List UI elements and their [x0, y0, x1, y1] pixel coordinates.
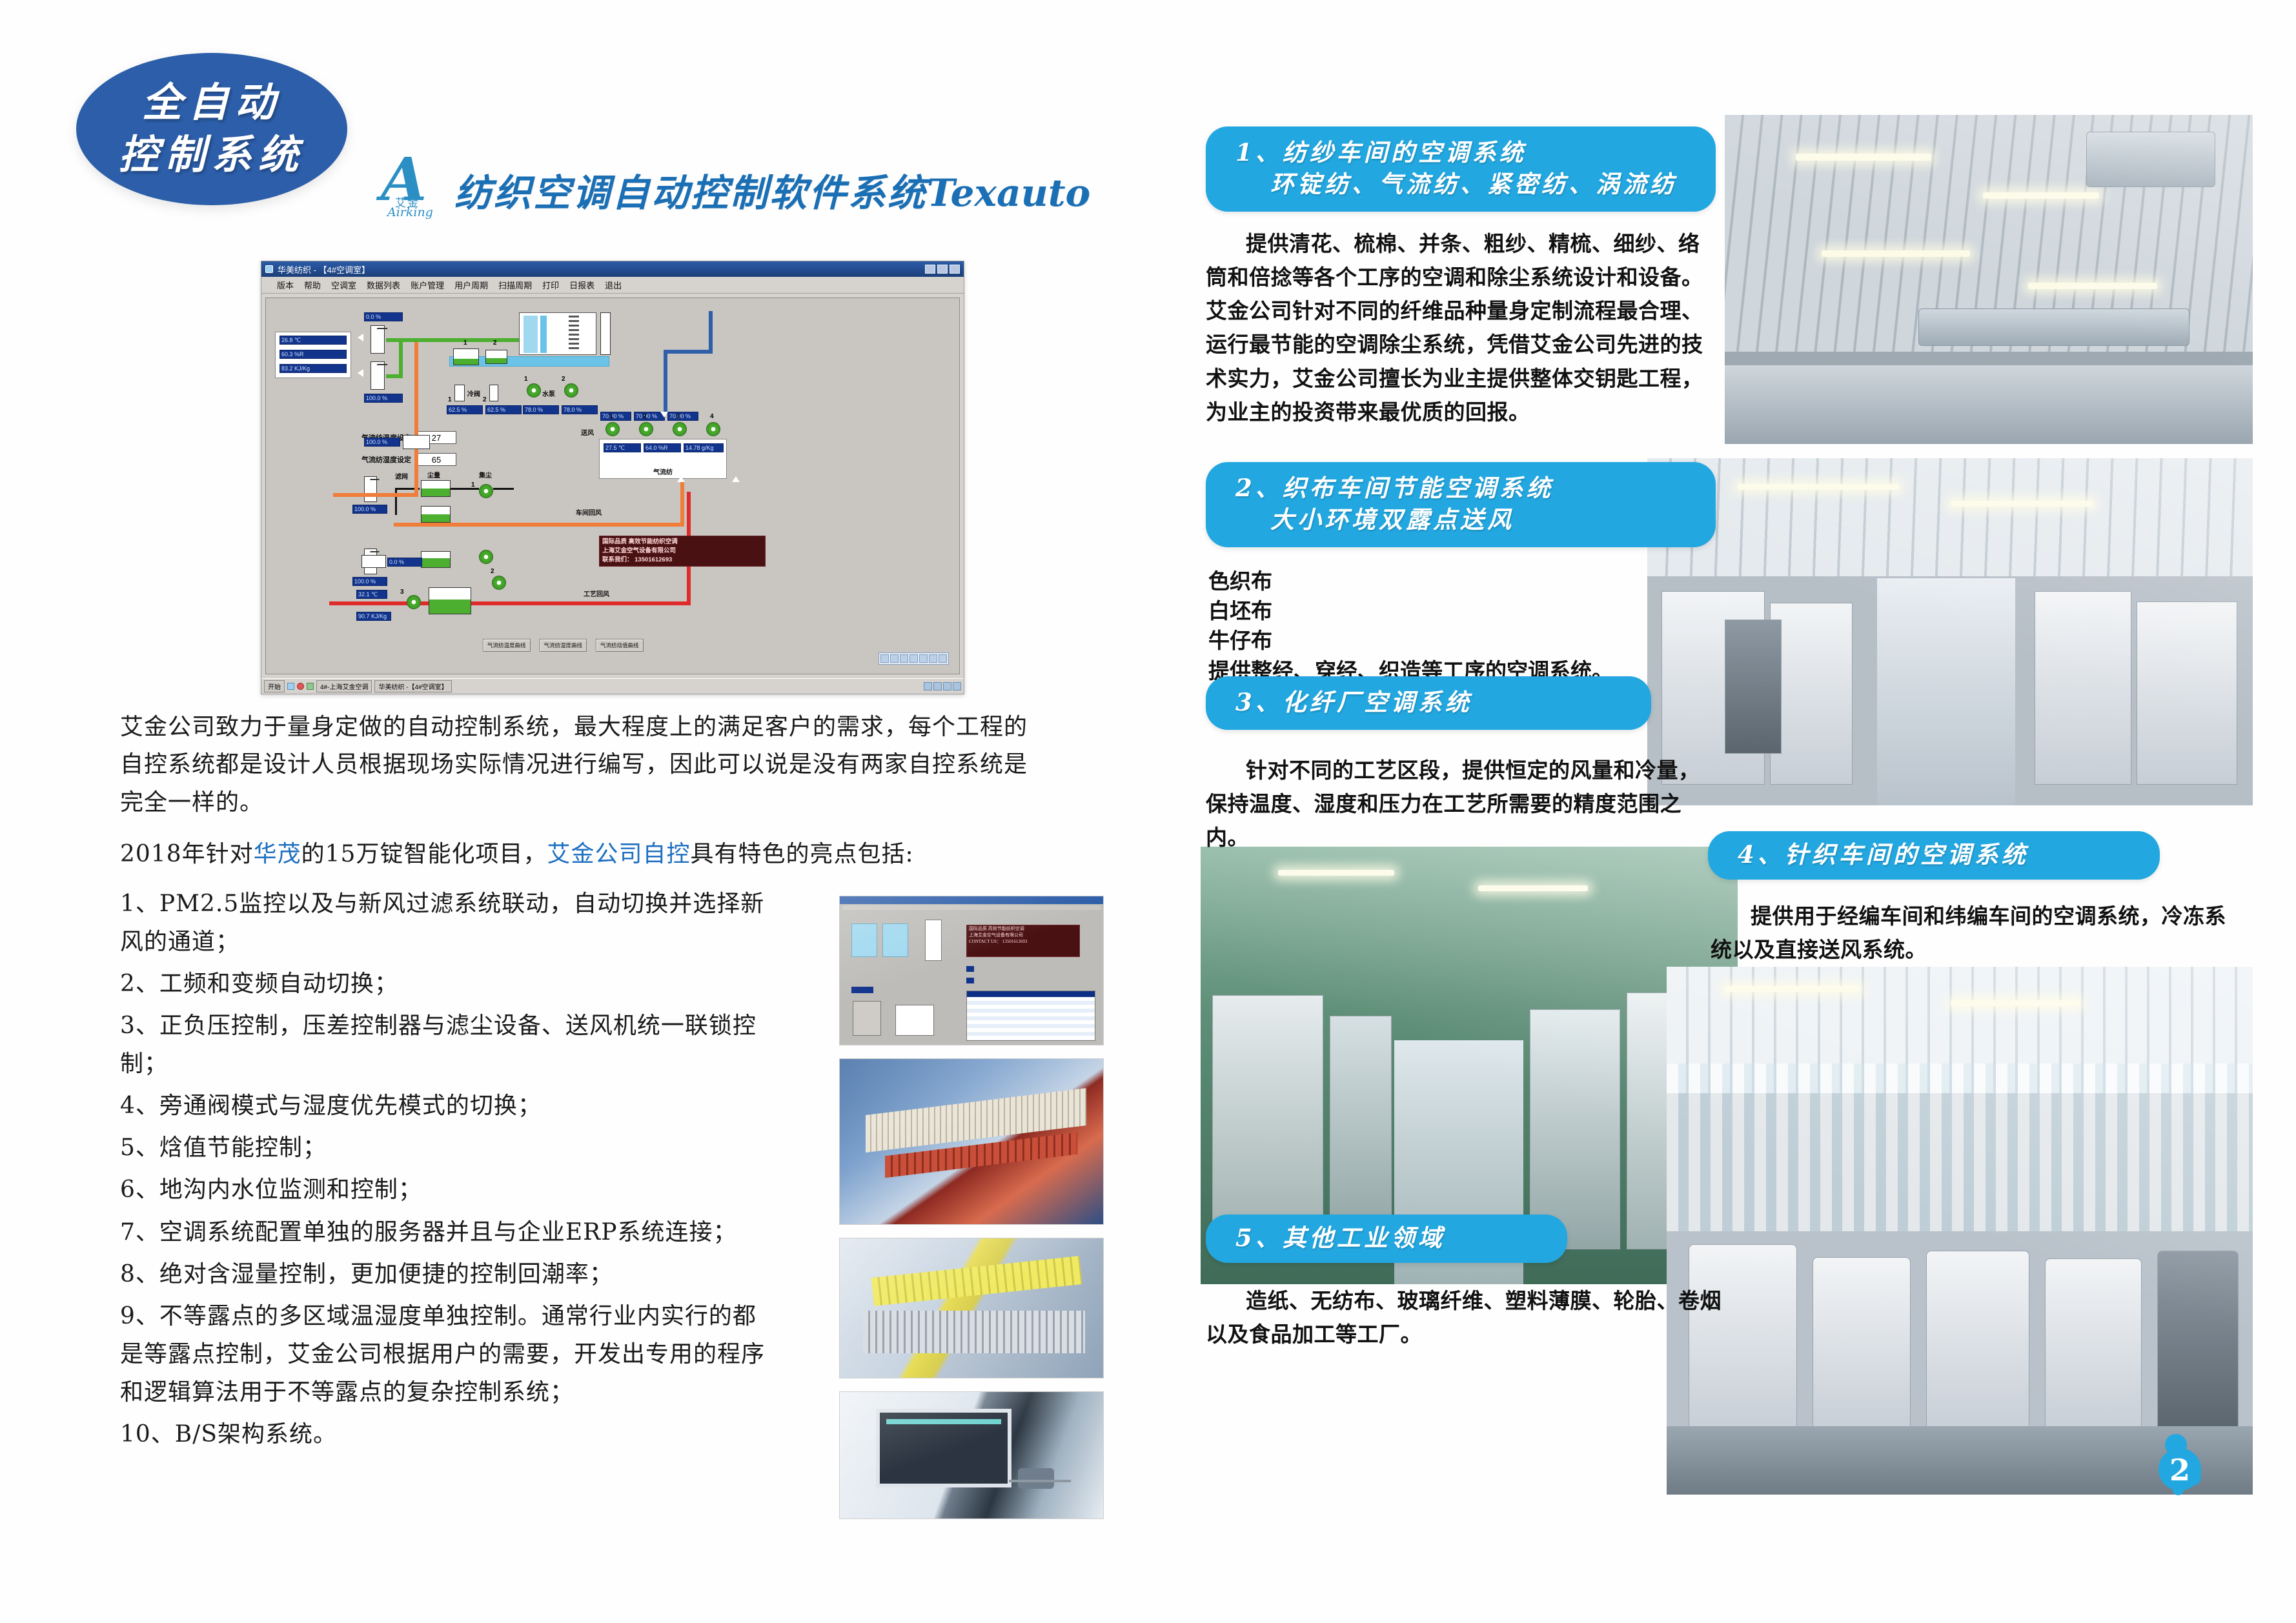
- supply-fan-icon-2[interactable]: [639, 422, 653, 436]
- cold-valve-label: 冷阀: [467, 388, 480, 398]
- wrench-icon[interactable]: [929, 654, 937, 663]
- help-icon[interactable]: [939, 654, 947, 663]
- quicklaunch-icon-2[interactable]: [297, 683, 304, 690]
- filter-tank-3: [421, 551, 451, 568]
- water-icon[interactable]: [909, 654, 918, 663]
- process-fan-icon[interactable]: [479, 550, 493, 564]
- close-icon[interactable]: [950, 265, 960, 274]
- photo-gloss: [840, 1238, 1103, 1378]
- fresh-air-damper-icon[interactable]: [371, 325, 385, 354]
- supply-fan-value-3: 70.00 %: [667, 412, 698, 421]
- cold-valve-value-2: 62.5 %: [485, 405, 522, 414]
- intro2-highlight-huamao: 华茂: [254, 841, 301, 867]
- spray-tank-1: [453, 348, 479, 365]
- filter-damper-value-2: 100.0 %: [352, 577, 387, 586]
- room-temperature-value: 27.5 ℃: [604, 443, 641, 452]
- blue-pipe-1: [709, 311, 713, 352]
- cold-valve-number-1: 1: [448, 396, 452, 403]
- menu-item-accounts[interactable]: 账户管理: [411, 279, 444, 291]
- badge-line-1: 全自动: [142, 77, 281, 129]
- room-name-label: 气流纺: [600, 467, 726, 476]
- intro2-part-b: 的15万锭智能化项目，: [301, 841, 547, 867]
- process-return-duct: [329, 601, 691, 605]
- badge-line-2: 控制系统: [119, 129, 305, 181]
- supply-fan-number-4: 4: [710, 413, 714, 420]
- page-title-latin: Texauto: [927, 171, 1090, 215]
- bypass-damper-icon[interactable]: [403, 435, 430, 449]
- filter-damper-icon-1[interactable]: [364, 476, 377, 502]
- list-item: 9、不等露点的多区域温湿度单独控制。通常行业内实行的都是等露点控制，艾金公司根据…: [120, 1297, 772, 1411]
- menu-item-user-cycle[interactable]: 用户周期: [454, 279, 488, 291]
- fabric-type-1: 色织布: [1208, 567, 1725, 596]
- tray-icon-3[interactable]: [943, 682, 951, 691]
- return-air-branch: [333, 493, 418, 497]
- start-button[interactable]: 开始: [264, 680, 285, 692]
- air-inlet-arrow-1: [358, 334, 363, 341]
- eliminator-plates: [600, 312, 611, 355]
- water-pump-number-1: 1: [524, 376, 528, 383]
- list-item: 5、焓值节能控制；: [120, 1129, 772, 1167]
- cold-valve-number-2: 2: [483, 396, 487, 403]
- cold-valve-icon-1[interactable]: [454, 385, 465, 401]
- outdoor-temperature-value: 26.8 ℃: [279, 336, 347, 345]
- list-item: 8、绝对含湿量控制，更加便捷的控制回潮率；: [120, 1255, 772, 1293]
- filter-damper-value-1: 100.0 %: [352, 505, 387, 514]
- floating-toolbar[interactable]: [879, 652, 949, 665]
- menu-item-print[interactable]: 打印: [542, 279, 559, 291]
- section-4-title: 4、针织车间的空调系统: [1738, 839, 2134, 871]
- menu-item-scan-cycle[interactable]: 扫描周期: [498, 279, 532, 291]
- quicklaunch-icon-3[interactable]: [307, 683, 314, 690]
- spray-number-1: 1: [463, 339, 467, 347]
- section-heading-5: 5、其他工业领域: [1206, 1215, 1567, 1263]
- supply-fan-number-2: 2: [643, 413, 647, 420]
- system-tray[interactable]: [924, 682, 961, 691]
- water-pump-value-1: 78.0 %: [523, 405, 559, 414]
- water-pump-value-2: 78.0 %: [562, 405, 598, 414]
- supply-fan-label: 送风: [581, 427, 594, 437]
- workshop-return-duct: [394, 523, 684, 527]
- intro2-highlight-airking: 艾金公司自控: [547, 841, 690, 867]
- filter-tank-1: [421, 480, 451, 497]
- trend-icon[interactable]: [900, 654, 908, 663]
- black-duct-2: [395, 488, 397, 515]
- process-return-fan[interactable]: [407, 595, 421, 609]
- outdoor-enthalpy-value: 83.2 KJ/Kg: [279, 364, 347, 373]
- app-icon: [265, 265, 273, 273]
- section-heading-4: 4、针织车间的空调系统: [1708, 831, 2160, 880]
- process-enthalpy-value: 90.7 KJ/Kg: [356, 612, 391, 621]
- fabric-type-3: 牛仔布: [1208, 626, 1725, 656]
- outdoor-humidity-value: 60.3 %R: [279, 350, 347, 359]
- water-pump-icon-2[interactable]: [564, 383, 578, 398]
- blue-pipe-2: [664, 350, 713, 354]
- page-title: 纺织空调自动控制软件系统Texauto: [454, 163, 1090, 219]
- section-2-subtitle: 大小环境双露点送风: [1235, 504, 1690, 536]
- list-item: 7、空调系统配置单独的服务器并且与企业ERP系统连接；: [120, 1213, 772, 1251]
- hmi-software-screenshot[interactable]: 华美纺织 - 【4#空调室】 版本 帮助 空调室 数据列表 账户管理 用户周期 …: [261, 261, 964, 694]
- section-4-body: 提供用于经编车间和纬编车间的空调系统，冷冻系统以及直接送风系统。: [1711, 900, 2227, 967]
- section-heading-3: 3、化纤厂空调系统: [1206, 676, 1651, 730]
- hmi-title-bar: 华美纺织 - 【4#空调室】: [261, 261, 964, 277]
- dust-collector-fan-1[interactable]: [479, 484, 493, 498]
- return-air-riser: [414, 342, 418, 497]
- air-washer-chamber: [519, 312, 596, 355]
- hmi-menu-bar[interactable]: 版本 帮助 空调室 数据列表 账户管理 用户周期 扫描周期 打印 日报表 退出: [261, 277, 964, 294]
- brand-lockup: A 艾金 Airking 纺织空调自动控制软件系统Texauto: [378, 152, 1090, 219]
- menu-item-data-list[interactable]: 数据列表: [367, 279, 400, 291]
- supply-fan-icon-4[interactable]: [706, 422, 720, 436]
- process-fan-number-2: 2: [491, 568, 494, 575]
- dust-amount-label: 尘量: [427, 470, 440, 479]
- intro-paragraph: 艾金公司致力于量身定做的自动控制系统，最大程度上的满足客户的需求，每个工程的自控…: [120, 709, 1043, 822]
- contact-info-box: 国际品质 高效节能纺织空调 上海艾金空气设备有限公司 联系我们： 1350161…: [599, 536, 766, 567]
- photo-knitting-workshop: [1667, 967, 2253, 1495]
- room-status-box: 27.5 ℃ 64.0 %R 14.78 g/Kg 气流纺: [599, 439, 727, 479]
- taskbar-item-ac[interactable]: 4#-上海艾金空调: [316, 680, 372, 692]
- list-item: 2、工频和变频自动切换；: [120, 965, 772, 1003]
- section-2-title: 2、织布车间节能空调系统: [1235, 472, 1690, 504]
- logo-english-name: Airking: [387, 205, 433, 219]
- list-item: 4、旁通阀模式与湿度优先模式的切换；: [120, 1087, 772, 1125]
- hmi-taskbar[interactable]: 开始 4#-上海艾金空调 华美纺织 -【4#空调室】: [261, 678, 964, 694]
- black-duct-3: [451, 488, 479, 490]
- section-heading-1: 1、纺纱车间的空调系统 环锭纺、气流纺、紧密纺、涡流纺: [1206, 126, 1716, 212]
- process-valve-icon[interactable]: [361, 555, 386, 568]
- photo-plc-terminals-2: [839, 1238, 1104, 1378]
- photo-gloss: [1725, 115, 2253, 444]
- supply-fan-icon-3[interactable]: [673, 422, 687, 436]
- room-moisture-value: 14.78 g/Kg: [684, 443, 724, 452]
- enthalpy-curve-button[interactable]: 气流纺焓值曲线: [596, 639, 644, 652]
- section-1-body: 提供清花、梳棉、并条、粗纱、精梳、细纱、络筒和倍捻等各个工序的空调和除尘系统设计…: [1206, 227, 1720, 429]
- outdoor-readout-panel: 26.8 ℃ 60.3 %R 83.2 KJ/Kg: [275, 332, 351, 378]
- hmi-process-diagram[interactable]: 26.8 ℃ 60.3 %R 83.2 KJ/Kg 0.0 % 100.0 % …: [265, 297, 960, 674]
- list-item: 3、正负压控制，压差控制器与滤尘设备、送风机统一联锁控制；: [120, 1007, 772, 1083]
- photo-gloss: [1667, 967, 2253, 1495]
- supply-fan-icon-1[interactable]: [605, 422, 620, 436]
- supply-pipe-green-1: [386, 338, 519, 342]
- page-title-cn: 纺织空调自动控制软件系统: [454, 172, 927, 214]
- photo-spinning-mill-ceiling: [1725, 115, 2253, 444]
- section-3-body: 针对不同的工艺区段，提供恒定的风量和冷量，保持温度、湿度和压力在工艺所需要的精度…: [1206, 754, 1709, 854]
- process-return-air-label: 工艺回风: [584, 589, 609, 598]
- contact-line-3: 联系我们： 13501612693: [602, 556, 762, 565]
- workshop-return-air-label: 车间回风: [576, 507, 602, 517]
- photo-gloss: [840, 1392, 1103, 1518]
- return-air-arrow-up-1: [677, 476, 685, 482]
- list-item: 1、PM2.5监控以及与新风过滤系统联动，自动切换并选择新风的通道；: [120, 885, 772, 961]
- water-pump-label: 水泵: [542, 388, 555, 398]
- list-item: 6、地沟内水位监测和控制；: [120, 1171, 772, 1209]
- setpoint-row-humidity[interactable]: 气流纺湿度设定 65: [361, 453, 456, 466]
- section-1-title: 1、纺纱车间的空调系统: [1235, 137, 1690, 168]
- filter-tank-2: [421, 506, 451, 523]
- tray-icon-1[interactable]: [924, 682, 932, 691]
- hmi-window-title: 华美纺织 - 【4#空调室】: [278, 263, 370, 276]
- menu-item-help[interactable]: 帮助: [304, 279, 321, 291]
- maximize-icon[interactable]: [937, 265, 948, 274]
- section-heading-2: 2、织布车间节能空调系统 大小环境双露点送风: [1206, 462, 1716, 547]
- black-duct-4: [493, 488, 514, 490]
- supply-fan-number-3: 3: [676, 413, 680, 420]
- project-highlight-intro: 2018年针对华茂的15万锭智能化项目，艾金公司自控具有特色的亮点包括:: [120, 836, 1043, 873]
- fabric-type-2: 白坯布: [1208, 596, 1725, 626]
- photo-weaving-hall: [1647, 458, 2253, 805]
- page-number-decoration: 2: [2155, 1430, 2232, 1507]
- menu-item-version[interactable]: 版本: [277, 279, 294, 291]
- temperature-curve-button[interactable]: 气流纺温度曲线: [483, 639, 531, 652]
- bypass-damper-value: 100.0 %: [364, 438, 400, 447]
- contact-line-1: 国际品质 高效节能纺织空调: [602, 538, 762, 547]
- section-5-title: 5、其他工业领域: [1235, 1222, 1541, 1254]
- alarm-icon[interactable]: [890, 654, 899, 663]
- water-pump-number-2: 2: [562, 376, 565, 383]
- supply-fan-value-1: 70.00 %: [600, 412, 631, 421]
- window-controls[interactable]: [925, 265, 960, 274]
- return-air-damper-value: 100.0 %: [364, 394, 403, 403]
- photo-plc-terminals-1: [839, 1058, 1104, 1225]
- chart-button-row[interactable]: 气流纺温度曲线 气流纺湿度曲线 气流纺焓值曲线: [483, 639, 644, 652]
- cold-valve-value-1: 62.5 %: [447, 405, 483, 414]
- supply-pipe-green-3: [399, 338, 403, 378]
- section-3-title: 3、化纤厂空调系统: [1235, 687, 1625, 718]
- photo-gloss: [1647, 458, 2253, 805]
- photo-gloss: [840, 1059, 1103, 1224]
- process-exhaust-fan[interactable]: [492, 576, 506, 590]
- section-1-subtitle: 环锭纺、气流纺、紧密纺、涡流纺: [1235, 168, 1690, 200]
- process-temperature-value: 32.1 ℃: [356, 590, 387, 599]
- intro2-part-a: 2018年针对: [120, 841, 254, 867]
- spray-tank-2: [485, 350, 507, 364]
- auto-control-badge: 全自动 控制系统: [76, 53, 347, 205]
- menu-item-daily-report[interactable]: 日报表: [569, 279, 594, 291]
- water-pump-icon-1[interactable]: [527, 383, 541, 398]
- cold-valve-icon-2[interactable]: [489, 385, 498, 401]
- hmi-thumbnail-screenshot: 国际品质 高效节能纺织空调 上海艾金空气设备有限公司 CONTACT US： 1…: [839, 896, 1104, 1045]
- info-icon[interactable]: [880, 654, 889, 663]
- taskbar-item-window[interactable]: 华美纺织 -【4#空调室】: [374, 680, 451, 692]
- process-valve-value: 0.0 %: [387, 558, 422, 567]
- tray-icon-2[interactable]: [933, 682, 942, 691]
- tray-icon-4[interactable]: [953, 682, 961, 691]
- dust-collect-label: 集尘: [479, 470, 492, 479]
- filter-label: 滤网: [395, 471, 408, 481]
- workshop-return-riser: [680, 481, 684, 527]
- thumb-gloss: [840, 896, 1103, 1045]
- blue-pipe-3: [664, 350, 667, 412]
- menu-item-exit[interactable]: 退出: [605, 279, 622, 291]
- highlight-list: 1、PM2.5监控以及与新风过滤系统联动，自动切换并选择新风的通道； 2、工频和…: [120, 885, 772, 1453]
- blue-pipe-arrow: [660, 412, 668, 418]
- list-item: 10、B/S架构系统。: [120, 1415, 772, 1453]
- report-icon[interactable]: [919, 654, 928, 663]
- spray-number-2: 2: [493, 339, 497, 347]
- return-air-arrow-up-2: [732, 476, 740, 482]
- minimize-icon[interactable]: [925, 265, 935, 274]
- airking-logo: A 艾金 Airking: [378, 152, 445, 219]
- supply-fan-number-1: 1: [609, 413, 613, 420]
- contact-line-2: 上海艾金空气设备有限公司: [602, 547, 762, 556]
- fresh-air-damper-value: 0.0 %: [364, 312, 403, 321]
- setpoint-humidity-label: 气流纺湿度设定: [361, 454, 411, 465]
- process-tank: [429, 587, 471, 614]
- room-humidity-value: 64.0 %R: [644, 443, 681, 452]
- section-5-body: 造纸、无纺布、玻璃纤维、塑料薄膜、轮胎、卷烟以及食品加工等工厂。: [1206, 1284, 1722, 1351]
- setpoint-humidity-input[interactable]: 65: [416, 453, 456, 466]
- page-number: 2: [2159, 1449, 2201, 1492]
- menu-item-ac-room[interactable]: 空调室: [331, 279, 356, 291]
- section-2-list: 色织布 白坯布 牛仔布 提供整经、穿经、织造等工序的空调系统。: [1208, 567, 1725, 686]
- intro2-part-c: 具有特色的亮点包括:: [690, 841, 913, 867]
- air-inlet-arrow-2: [358, 369, 363, 377]
- humidity-curve-button[interactable]: 气流纺湿度曲线: [540, 639, 587, 652]
- quicklaunch-icon-1[interactable]: [287, 683, 294, 690]
- photo-hmi-panel: [839, 1391, 1104, 1519]
- return-air-damper-icon[interactable]: [371, 361, 385, 390]
- process-fan-number-3: 3: [400, 589, 404, 596]
